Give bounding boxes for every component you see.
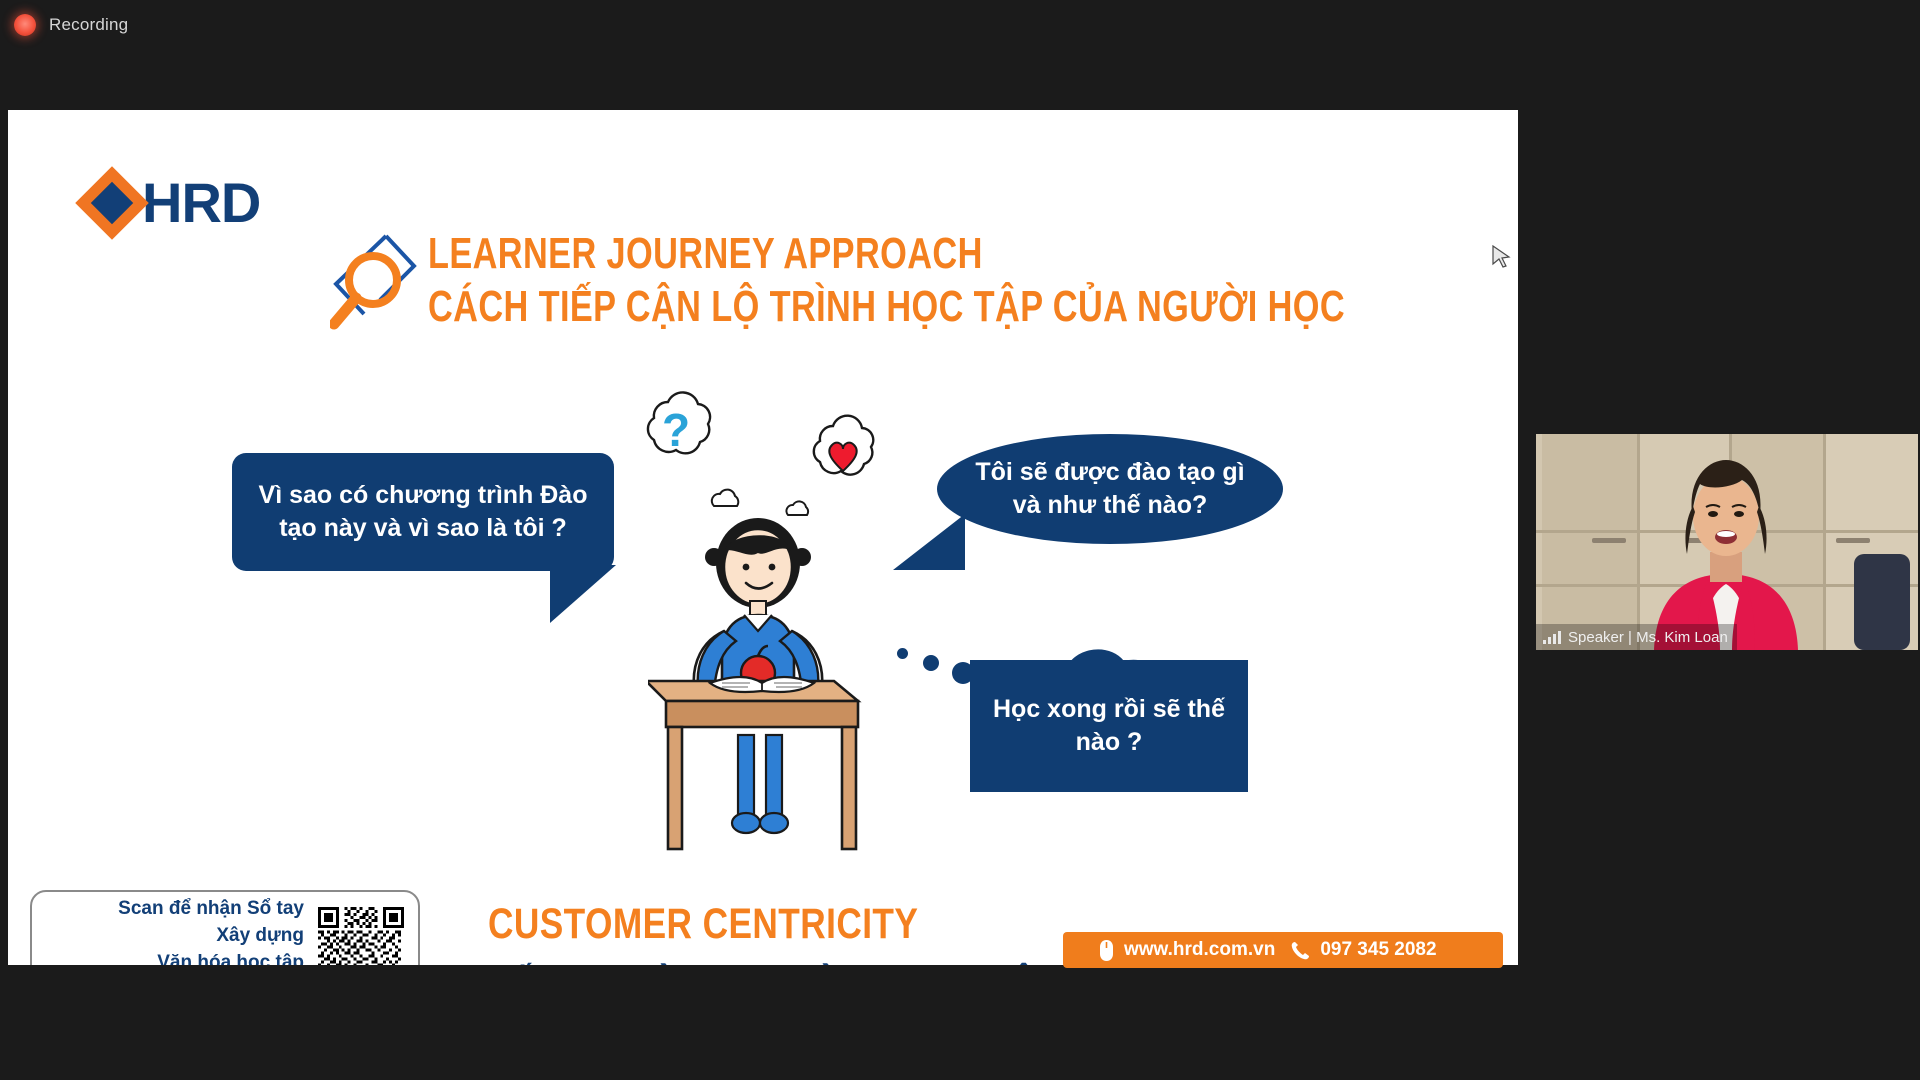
mouse-cursor <box>1492 245 1512 273</box>
speaker-name-text: Speaker | Ms. Kim Loan <box>1568 629 1728 646</box>
speech-bubble-after-learning: Học xong rồi sẽ thế nào ? <box>970 660 1248 792</box>
speaker-name-label: Speaker | Ms. Kim Loan <box>1536 624 1737 650</box>
contact-footer-bar: www.hrd.com.vn 097 345 2082 <box>1063 932 1503 968</box>
slide-title-block: LEARNER JOURNEY APPROACH CÁCH TIẾP CẬN L… <box>428 232 1518 330</box>
qr-card-line: Văn hóa học tập <box>42 950 304 965</box>
phone-item[interactable]: 097 345 2082 <box>1291 939 1436 961</box>
hrd-logo-text: HRD <box>142 170 260 235</box>
phone-label: 097 345 2082 <box>1320 939 1436 961</box>
slide-title-en: LEARNER JOURNEY APPROACH <box>428 232 1345 277</box>
svg-text:?: ? <box>662 404 690 456</box>
screen: Recording HRD LEARNER JOURNEY APPROACH C… <box>0 0 1920 1080</box>
phone-icon <box>1291 941 1310 960</box>
qr-card-line: Xây dựng <box>42 923 304 950</box>
hrd-logo: HRD <box>86 170 260 235</box>
mouse-icon <box>1099 940 1114 961</box>
website-item[interactable]: www.hrd.com.vn <box>1099 939 1275 961</box>
speech-bubble-text: Tôi sẽ được đào tạo gì và như thế nào? <box>963 456 1257 523</box>
headline-en: CUSTOMER CENTRICITY <box>488 900 1067 949</box>
learner-illustration <box>648 505 898 865</box>
headline-vi: LẤY NGƯỜI HỌC LÀ TRUNG TÂM <box>488 963 1067 965</box>
qr-code-icon[interactable] <box>318 907 404 965</box>
speech-bubble-what-training: Tôi sẽ được đào tạo gì và như thế nào? <box>937 434 1283 544</box>
bubble-tail <box>550 565 616 623</box>
qr-card-text: Scan để nhận Sổ tay Xây dựng Văn hóa học… <box>42 896 308 965</box>
bubble-tail <box>893 514 965 570</box>
qr-card-line: Scan để nhận Sổ tay <box>42 896 304 923</box>
slide-title-vi: CÁCH TIẾP CẬN LỘ TRÌNH HỌC TẬP CỦA NGƯỜI… <box>428 285 1345 330</box>
thought-dot <box>923 655 939 671</box>
signal-bars-icon <box>1543 631 1561 644</box>
thought-dot <box>897 648 908 659</box>
speaker-video-tile[interactable]: Speaker | Ms. Kim Loan <box>1536 434 1918 650</box>
speech-bubble-text: Vì sao có chương trình Đào tạo này và vì… <box>246 479 600 545</box>
heart-cloud <box>798 413 888 499</box>
qr-scan-card[interactable]: Scan để nhận Sổ tay Xây dựng Văn hóa học… <box>30 890 420 965</box>
recording-label: Recording <box>49 15 128 35</box>
magnifier-icon <box>330 232 426 332</box>
record-dot-icon <box>14 14 36 36</box>
recording-indicator-bar: Recording <box>0 0 1920 50</box>
hrd-diamond-logo <box>86 177 138 229</box>
question-cloud: ? <box>630 388 722 484</box>
speech-bubble-why-program: Vì sao có chương trình Đào tạo này và vì… <box>232 453 614 571</box>
presentation-slide[interactable]: HRD LEARNER JOURNEY APPROACH CÁCH TIẾP C… <box>8 110 1518 965</box>
website-label: www.hrd.com.vn <box>1124 939 1275 961</box>
speaker-video-feed <box>1536 434 1918 650</box>
speech-bubble-text: Học xong rồi sẽ thế nào ? <box>970 693 1248 760</box>
